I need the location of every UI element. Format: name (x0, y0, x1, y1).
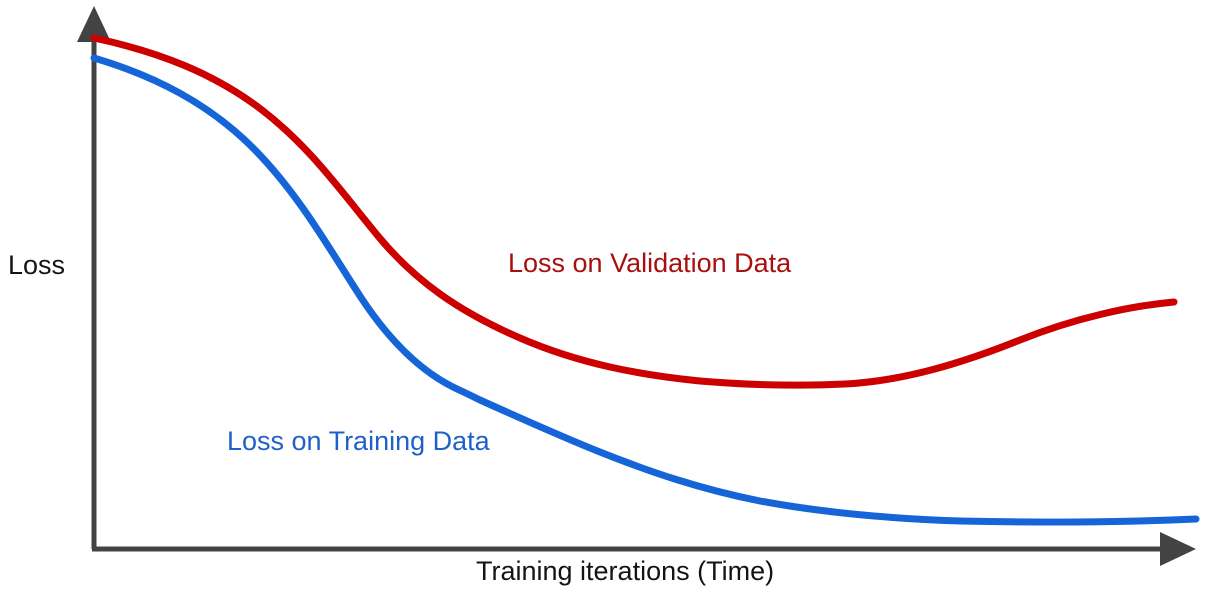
x-axis-arrow-icon (1160, 532, 1196, 566)
training-series-label: Loss on Training Data (227, 426, 490, 457)
loss-curve-chart: Loss Training iterations (Time) Loss on … (0, 0, 1206, 591)
chart-plot-area (0, 0, 1206, 591)
validation-loss-curve (94, 38, 1174, 385)
x-axis-label: Training iterations (Time) (476, 556, 774, 587)
validation-series-label: Loss on Validation Data (508, 248, 791, 279)
y-axis-label: Loss (8, 250, 65, 281)
